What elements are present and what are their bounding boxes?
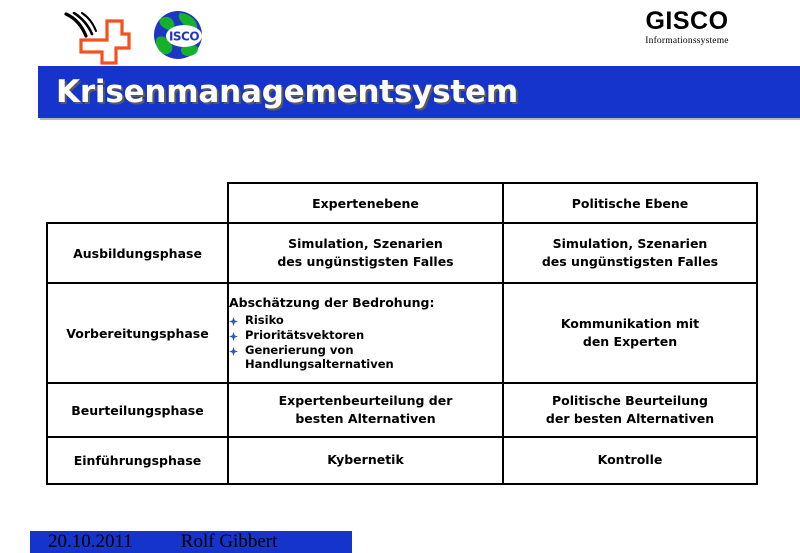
column-header-politische-ebene: Politische Ebene: [503, 183, 757, 223]
bullet-list: Risiko Prioritätsvektoren Generierung vo…: [229, 313, 502, 372]
phase-label-einfuehrungsphase: Einführungsphase: [47, 437, 228, 484]
cell-line: Politische Beurteilung: [504, 392, 756, 410]
list-item: Risiko: [229, 313, 502, 328]
medical-cross-icon: [76, 18, 132, 66]
footer-author: Rolf Gibbert: [181, 531, 278, 553]
cell-vorbereitungsphase-experten: Abschätzung der Bedrohung: Risiko Priori…: [228, 283, 503, 383]
bullet-list-heading: Abschätzung der Bedrohung:: [229, 294, 502, 312]
cell-line: Expertenbeurteilung der: [229, 392, 502, 410]
footer-content: 20.10.2011 Rolf Gibbert: [30, 531, 352, 553]
column-header-expertenebene: Expertenebene: [228, 183, 503, 223]
cell-beurteilungsphase-experten: Expertenbeurteilung der besten Alternati…: [228, 383, 503, 437]
blue-diamond-bullet-icon: [229, 332, 238, 341]
table-header-row: Expertenebene Politische Ebene: [47, 183, 757, 223]
slide-title-banner: Krisenmanagementsystem: [38, 66, 800, 118]
brand-block: GISCO Informationssysteme: [592, 8, 782, 46]
cell-line: Kybernetik: [229, 451, 502, 469]
list-item-label-continued: Handlungsalternativen: [245, 357, 502, 372]
list-item: Generierung von Handlungsalternativen: [229, 343, 502, 372]
cell-vorbereitungsphase-politisch: Kommunikation mit den Experten: [503, 283, 757, 383]
cell-line: Kontrolle: [504, 451, 756, 469]
cell-einfuehrungsphase-politisch: Kontrolle: [503, 437, 757, 484]
cell-ausbildungsphase-experten: Simulation, Szenarien des ungünstigsten …: [228, 223, 503, 283]
list-item-label: Prioritätsvektoren: [245, 328, 364, 342]
page-title: Krisenmanagementsystem: [56, 74, 518, 110]
brand-subtitle: Informationssysteme: [592, 36, 782, 46]
cell-line: der besten Alternativen: [504, 410, 756, 428]
table-corner-spacer: [47, 183, 228, 223]
cell-line: Simulation, Szenarien: [229, 235, 502, 253]
table-row: Beurteilungsphase Expertenbeurteilung de…: [47, 383, 757, 437]
table-row: Einführungsphase Kybernetik Kontrolle: [47, 437, 757, 484]
list-item: Prioritätsvektoren: [229, 328, 502, 343]
brand-name: GISCO: [592, 8, 782, 34]
isco-globe-icon: ISCO: [150, 9, 206, 61]
cell-line: besten Alternativen: [229, 410, 502, 428]
list-item-label: Generierung von: [245, 343, 354, 357]
cell-line: des ungünstigsten Falles: [504, 253, 756, 271]
cell-line: des ungünstigsten Falles: [229, 253, 502, 271]
svg-text:ISCO: ISCO: [169, 30, 199, 44]
phase-label-ausbildungsphase: Ausbildungsphase: [47, 223, 228, 283]
list-item-label: Risiko: [245, 313, 284, 327]
cell-ausbildungsphase-politisch: Simulation, Szenarien des ungünstigsten …: [503, 223, 757, 283]
cell-einfuehrungsphase-experten: Kybernetik: [228, 437, 503, 484]
blue-diamond-bullet-icon: [229, 347, 238, 356]
cell-line: Simulation, Szenarien: [504, 235, 756, 253]
blue-diamond-bullet-icon: [229, 317, 238, 326]
table-row: Ausbildungsphase Simulation, Szenarien d…: [47, 223, 757, 283]
phase-label-vorbereitungsphase: Vorbereitungsphase: [47, 283, 228, 383]
red-cross-signal-logo: [62, 12, 132, 62]
footer-date: 20.10.2011: [48, 531, 133, 553]
phase-label-beurteilungsphase: Beurteilungsphase: [47, 383, 228, 437]
header-logo-strip: ISCO GISCO Informationssysteme: [0, 0, 800, 66]
cell-line: den Experten: [504, 333, 756, 351]
footer-bar: 20.10.2011 Rolf Gibbert: [30, 531, 352, 553]
table-row: Vorbereitungsphase Abschätzung der Bedro…: [47, 283, 757, 383]
phase-matrix-table: Expertenebene Politische Ebene Ausbildun…: [46, 182, 758, 485]
cell-beurteilungsphase-politisch: Politische Beurteilung der besten Altern…: [503, 383, 757, 437]
cell-line: Kommunikation mit: [504, 315, 756, 333]
